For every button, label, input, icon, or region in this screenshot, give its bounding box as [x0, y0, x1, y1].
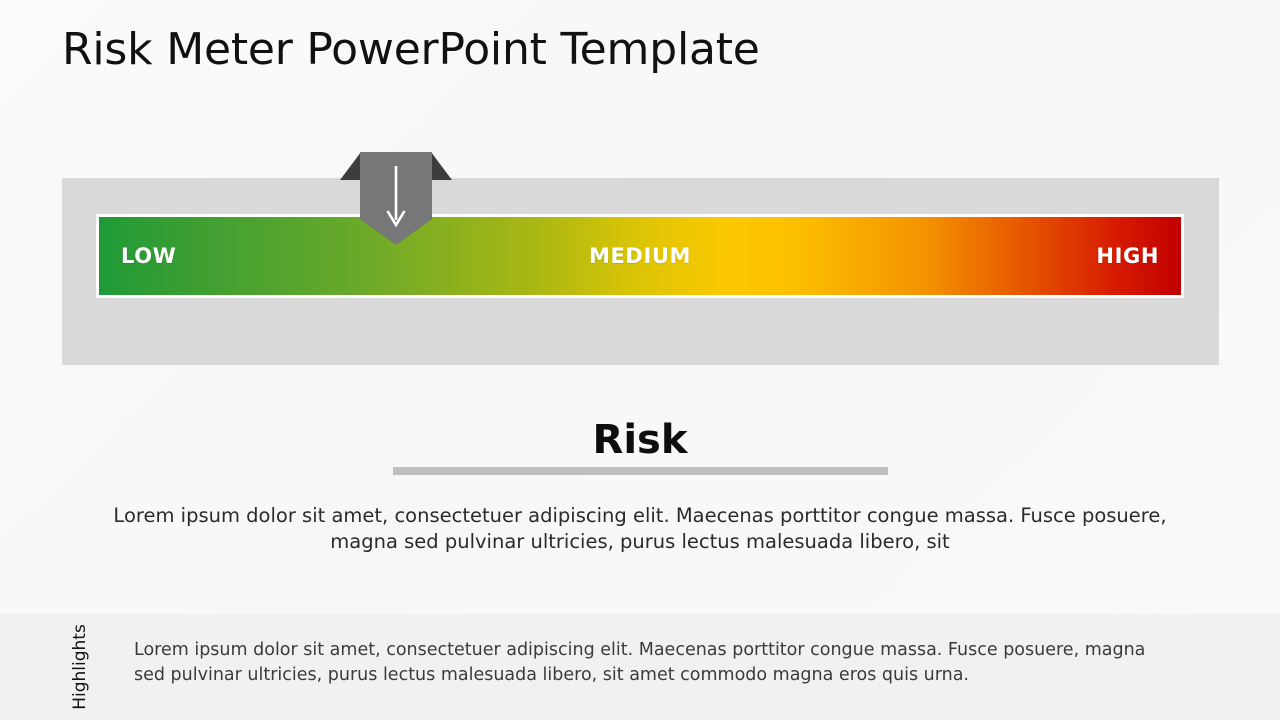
slide-canvas: Risk Meter PowerPoint Template LOW MEDIU…: [0, 0, 1280, 720]
highlights-label: Highlights: [60, 614, 100, 720]
pointer-wing-left: [340, 152, 361, 180]
highlights-body-text: Lorem ipsum dolor sit amet, consectetuer…: [134, 638, 1174, 688]
page-title: Risk Meter PowerPoint Template: [62, 22, 760, 78]
pointer-body: [360, 152, 432, 245]
risk-pointer-marker[interactable]: [340, 152, 452, 248]
risk-gauge[interactable]: LOW MEDIUM HIGH: [96, 214, 1184, 298]
gauge-label-high: HIGH: [1096, 244, 1159, 268]
gauge-label-low: LOW: [121, 244, 176, 268]
risk-body-text: Lorem ipsum dolor sit amet, consectetuer…: [110, 503, 1170, 555]
down-arrow-icon: [385, 166, 407, 228]
highlights-label-text: Highlights: [70, 624, 90, 710]
risk-divider: [393, 467, 888, 475]
gauge-label-medium: MEDIUM: [589, 244, 691, 268]
risk-heading: Risk: [0, 414, 1280, 466]
pointer-wing-right: [431, 152, 452, 180]
